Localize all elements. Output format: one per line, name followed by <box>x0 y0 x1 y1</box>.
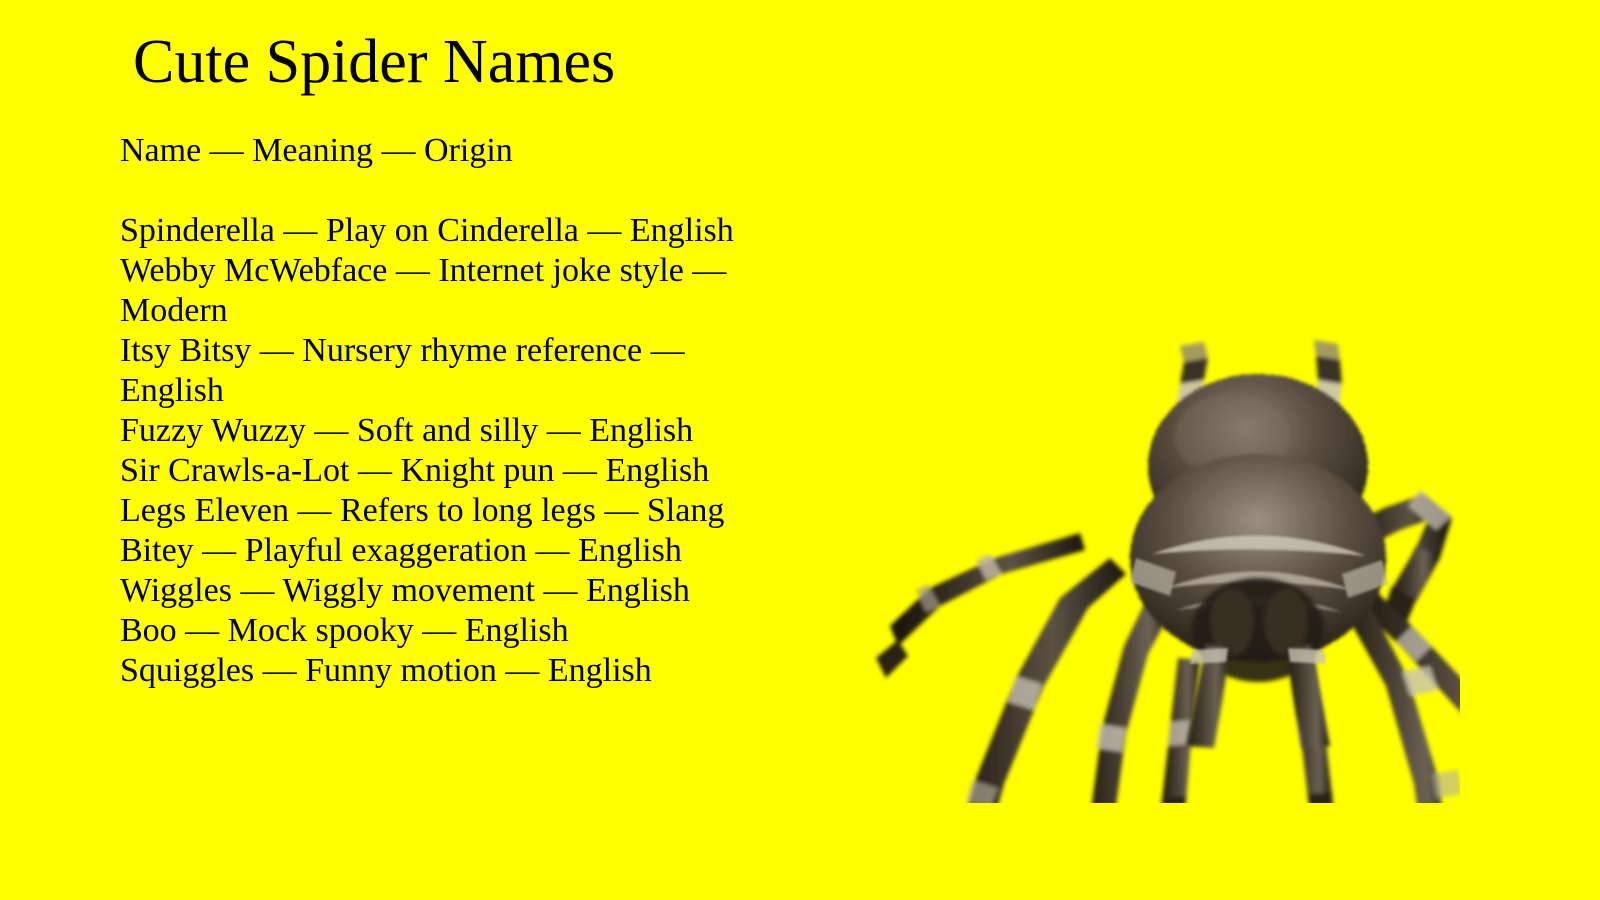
list-item: Squiggles — Funny motion — English <box>120 651 780 691</box>
slide-canvas: Cute Spider Names Name — Meaning — Origi… <box>0 0 1600 900</box>
spider-photo <box>780 258 1460 803</box>
list-item: Bitey — Playful exaggeration — English <box>120 531 780 571</box>
list-item: Spinderella — Play on Cinderella — Engli… <box>120 211 780 251</box>
list-item: Wiggles — Wiggly movement — English <box>120 571 780 611</box>
list-item: Boo — Mock spooky — English <box>120 611 780 651</box>
blank-line <box>120 171 780 211</box>
list-item: Itsy Bitsy — Nursery rhyme reference — E… <box>120 331 780 411</box>
page-title: Cute Spider Names <box>133 30 615 95</box>
list-item: Fuzzy Wuzzy — Soft and silly — English <box>120 411 780 451</box>
list-header-line: Name — Meaning — Origin <box>120 131 780 171</box>
list-item: Sir Crawls-a-Lot — Knight pun — English <box>120 451 780 491</box>
list-item: Legs Eleven — Refers to long legs — Slan… <box>120 491 780 531</box>
spider-name-list: Name — Meaning — Origin Spinderella — Pl… <box>120 131 780 691</box>
list-item: Webby McWebface — Internet joke style — … <box>120 251 780 331</box>
spider-cephalothorax <box>1130 454 1388 748</box>
